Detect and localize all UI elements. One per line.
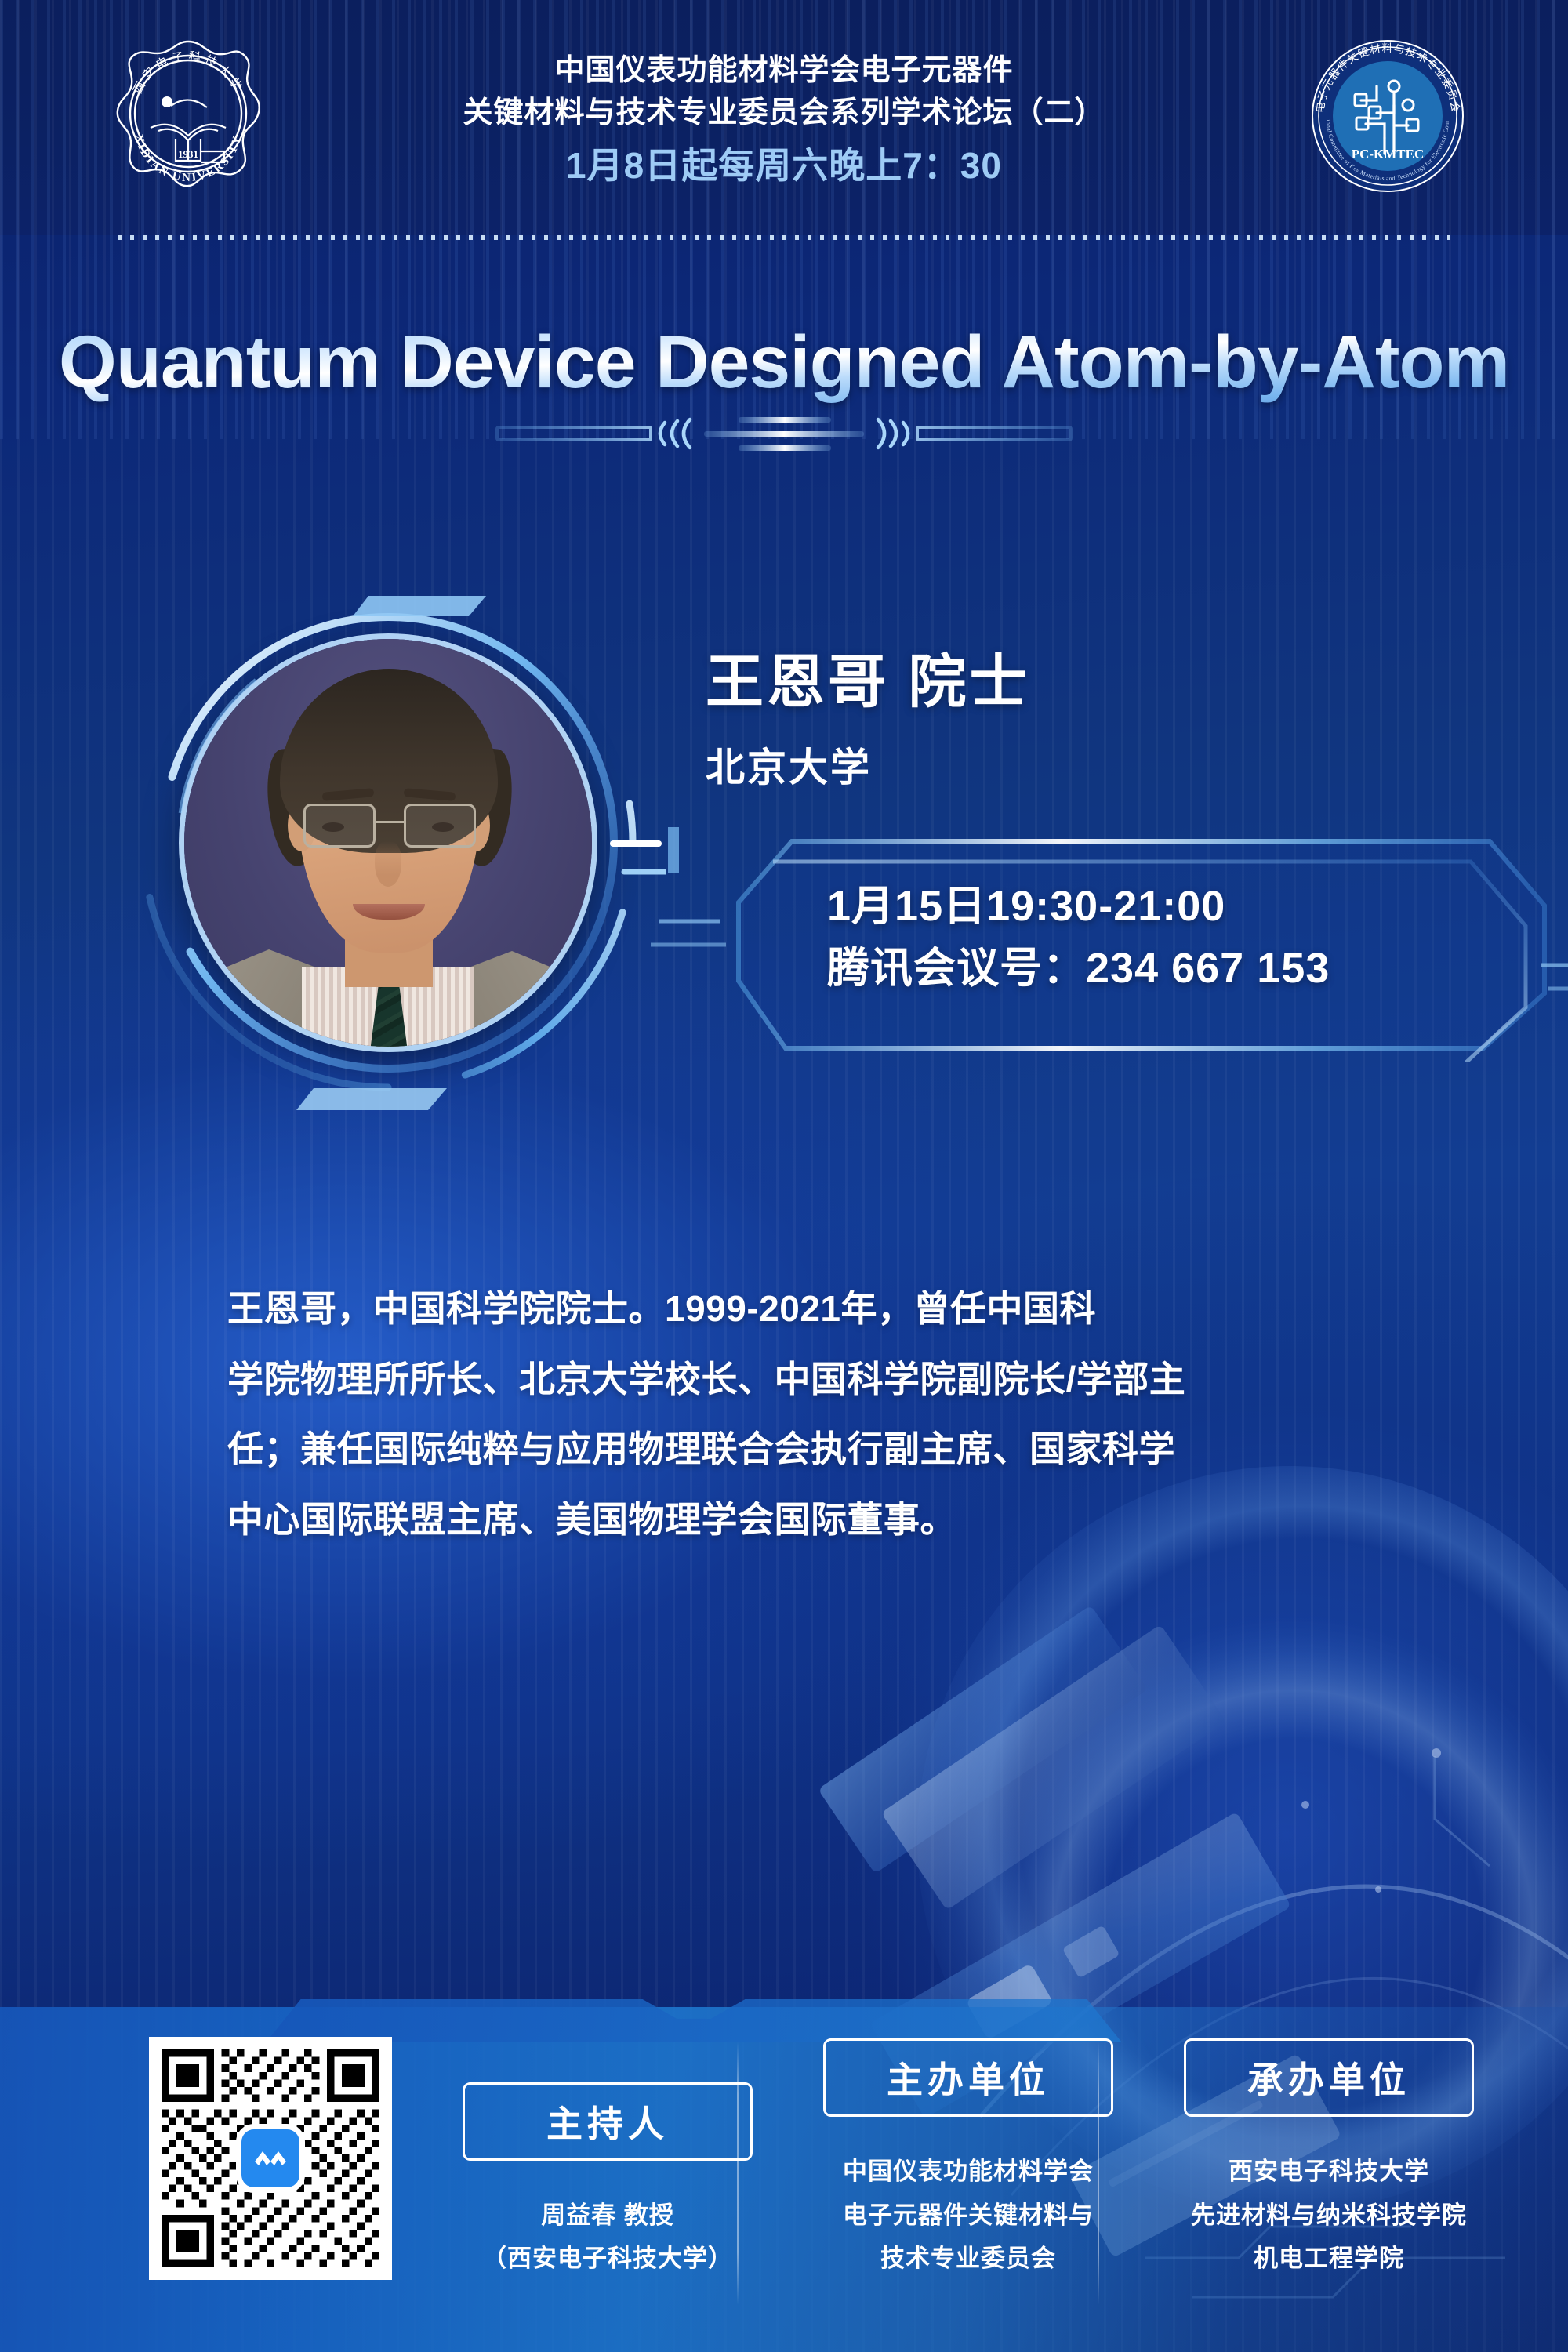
footer-host-line-1: 周益春 教授	[439, 2194, 776, 2237]
speaker-name: 王恩哥 院士	[706, 635, 1537, 719]
footer-column-organizer: 主办单位 中国仪表功能材料学会 电子元器件关键材料与 技术专业委员会	[800, 2038, 1137, 2280]
header-line-1: 中国仪表功能材料学会电子元器件	[321, 50, 1247, 93]
tencent-meeting-qr-code[interactable]	[149, 2037, 392, 2280]
pc-kmtec-logo: PC-KMTEC 电子元器件关键材料与技术专业委员会 Professional …	[1309, 38, 1466, 194]
footer-coorganizer-line-2: 先进材料与纳米科技学院	[1160, 2194, 1497, 2237]
footer-notch-decoration	[267, 1999, 1121, 2042]
speaker-portrait-area	[118, 564, 666, 1129]
xidian-logo-cn: 西安电子科技大学	[131, 49, 245, 96]
bio-line-3: 任；兼任国际纯粹与应用物理联合会执行副主席、国家科学	[227, 1414, 1348, 1485]
tencent-meeting-glyph	[252, 2147, 289, 2170]
xidian-logo-svg: 1931 XIDIAN UNIVERSITY 西安电子科技大学	[110, 35, 267, 196]
speaker-info-block: 王恩哥 院士 北京大学	[706, 635, 1537, 793]
header-schedule: 1月8日起每周六晚上7：30	[321, 139, 1247, 193]
bio-line-2: 学院物理所所长、北京大学校长、中国科学院副院长/学部主	[227, 1345, 1348, 1415]
bio-line-1: 王恩哥，中国科学院院士。1999-2021年，曾任中国科	[227, 1274, 1348, 1345]
footer-badge-host: 主持人	[463, 2082, 753, 2161]
poster-root: 1931 XIDIAN UNIVERSITY 西安电子科技大学 中国仪表功能材料…	[0, 0, 1568, 2352]
speaker-affiliation: 北京大学	[706, 736, 1537, 793]
title-divider-svg	[494, 412, 1074, 456]
poster-footer: 主持人 周益春 教授 （西安电子科技大学） 主办单位 中国仪表功能材料学会 电子…	[0, 1960, 1568, 2352]
header-dotted-divider	[118, 235, 1450, 240]
meeting-datetime: 1月15日19:30-21:00	[827, 876, 1517, 938]
bio-line-4: 中心国际联盟主席、美国物理学会国际董事。	[227, 1485, 1348, 1555]
footer-organizer-line-1: 中国仪表功能材料学会	[800, 2150, 1137, 2193]
poster-header: 1931 XIDIAN UNIVERSITY 西安电子科技大学 中国仪表功能材料…	[0, 0, 1568, 235]
pc-kmtec-logo-svg: PC-KMTEC 电子元器件关键材料与技术专业委员会 Professional …	[1309, 38, 1466, 194]
footer-badge-coorganizer: 承办单位	[1184, 2038, 1474, 2117]
xidian-university-logo: 1931 XIDIAN UNIVERSITY 西安电子科技大学	[110, 35, 267, 196]
footer-organizer-line-3: 技术专业委员会	[800, 2237, 1137, 2280]
footer-coorganizer-line-1: 西安电子科技大学	[1160, 2150, 1497, 2193]
footer-coorganizer-line-3: 机电工程学院	[1160, 2237, 1497, 2280]
header-line-2: 关键材料与技术专业委员会系列学术论坛（二）	[321, 93, 1247, 135]
header-title-block: 中国仪表功能材料学会电子元器件 关键材料与技术专业委员会系列学术论坛（二） 1月…	[321, 42, 1247, 194]
pc-kmtec-abbr: PC-KMTEC	[1352, 147, 1425, 162]
footer-badge-organizer: 主办单位	[823, 2038, 1113, 2117]
title-section: Quantum Device Designed Atom-by-Atom	[0, 320, 1568, 456]
footer-column-host: 主持人 周益春 教授 （西安电子科技大学）	[439, 2082, 776, 2280]
avatar	[184, 639, 592, 1047]
title-divider-ornament	[494, 412, 1074, 456]
meeting-info-panel: 1月15日19:30-21:00 腾讯会议号：234 667 153	[651, 827, 1568, 1062]
footer-column-coorganizer: 承办单位 西安电子科技大学 先进材料与纳米科技学院 机电工程学院	[1160, 2038, 1497, 2280]
meeting-number: 腾讯会议号：234 667 153	[827, 938, 1517, 1000]
xidian-logo-year: 1931	[178, 148, 198, 160]
page-title: Quantum Device Designed Atom-by-Atom	[59, 320, 1509, 405]
footer-host-line-2: （西安电子科技大学）	[439, 2237, 776, 2280]
footer-organizer-line-2: 电子元器件关键材料与	[800, 2194, 1137, 2237]
speaker-biography: 王恩哥，中国科学院院士。1999-2021年，曾任中国科 学院物理所所长、北京大…	[227, 1274, 1348, 1555]
tencent-meeting-icon	[241, 2129, 299, 2187]
